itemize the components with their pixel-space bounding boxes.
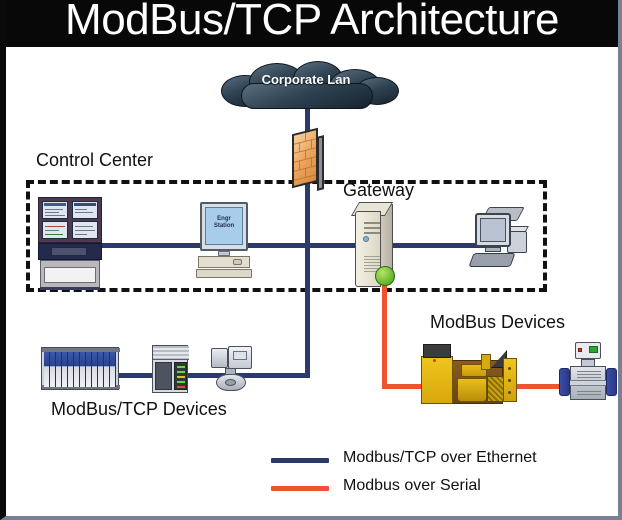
ethernet-bus-control-center (80, 243, 500, 248)
legend-label-serial: Modbus over Serial (343, 477, 481, 495)
firewall-brick-icon (290, 127, 326, 189)
page-title: ModBus/TCP Architecture (6, 0, 618, 45)
legend-label-ethernet: Modbus/TCP over Ethernet (343, 449, 537, 467)
valve-actuator-icon (559, 342, 617, 404)
workstation-icon: Engr Station (196, 202, 252, 280)
cloud-label: Corporate Lan (211, 72, 401, 87)
desktop-computer-icon (469, 207, 531, 279)
engine-generator-icon (421, 344, 536, 406)
io-rack-icon (41, 347, 119, 390)
cloud-icon: Corporate Lan (211, 61, 401, 109)
diagram-canvas: Control Center Corporate Lan (6, 47, 618, 516)
gateway-status-indicator (375, 266, 395, 286)
modbus-tcp-devices-label: ModBus/TCP Devices (51, 399, 227, 420)
diagram-page: ModBus/TCP Architecture Control Center C… (0, 0, 622, 520)
title-bar: ModBus/TCP Architecture (6, 0, 618, 47)
engr-station-label-line2: Station (205, 223, 243, 230)
ethernet-trunk-vertical (305, 177, 310, 378)
modbus-devices-label: ModBus Devices (430, 312, 565, 333)
flow-meter-icon (211, 342, 255, 394)
plc-module-icon (152, 345, 188, 393)
server-tower-icon (351, 202, 401, 290)
legend: Modbus/TCP over Ethernet Modbus over Ser… (271, 447, 601, 507)
engr-station-label-line1: Engr (205, 216, 243, 223)
legend-swatch-serial (271, 486, 329, 491)
gateway-label: Gateway (343, 180, 414, 201)
control-center-label: Control Center (36, 150, 153, 171)
legend-swatch-ethernet (271, 458, 329, 463)
operator-console-icon (38, 197, 102, 290)
